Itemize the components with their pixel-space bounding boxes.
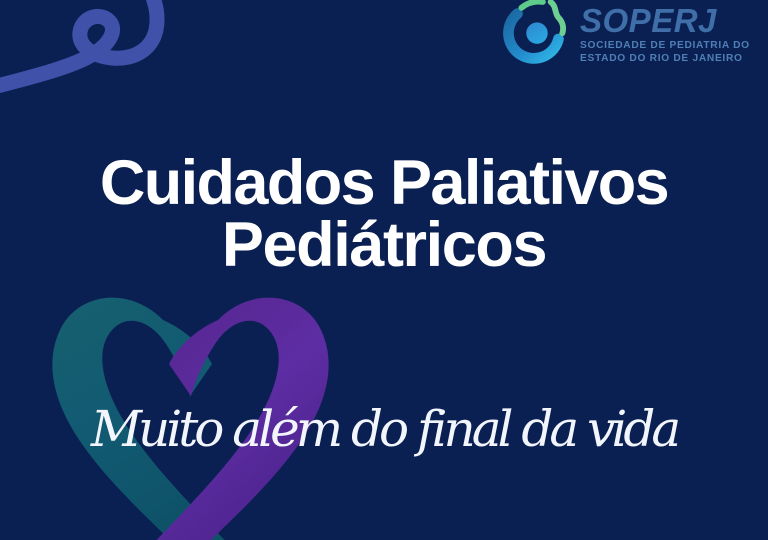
blue-swirl-flourish bbox=[0, 0, 157, 96]
soperj-logo-text: SOPERJ SOCIEDADE DE PEDIATRIA DO ESTADO … bbox=[580, 4, 756, 65]
page-title: Cuidados Paliativos Pediátricos bbox=[0, 152, 768, 276]
soperj-logo: SOPERJ SOCIEDADE DE PEDIATRIA DO ESTADO … bbox=[498, 2, 760, 84]
soperj-subtitle-line-2: ESTADO DO RIO DE JANEIRO bbox=[580, 53, 743, 66]
soperj-subtitle-line-1: SOCIEDADE DE PEDIATRIA DO bbox=[580, 40, 750, 53]
tagline: Muito além do final da vida bbox=[0, 398, 768, 460]
soperj-logo-mark bbox=[498, 0, 576, 78]
svg-text:SOPERJ: SOPERJ bbox=[580, 4, 717, 39]
poster-canvas: SOPERJ SOCIEDADE DE PEDIATRIA DO ESTADO … bbox=[0, 0, 768, 540]
title-line-2: Pediátricos bbox=[0, 214, 768, 276]
soperj-wordmark: SOPERJ bbox=[580, 4, 756, 40]
title-line-1: Cuidados Paliativos bbox=[0, 152, 768, 214]
